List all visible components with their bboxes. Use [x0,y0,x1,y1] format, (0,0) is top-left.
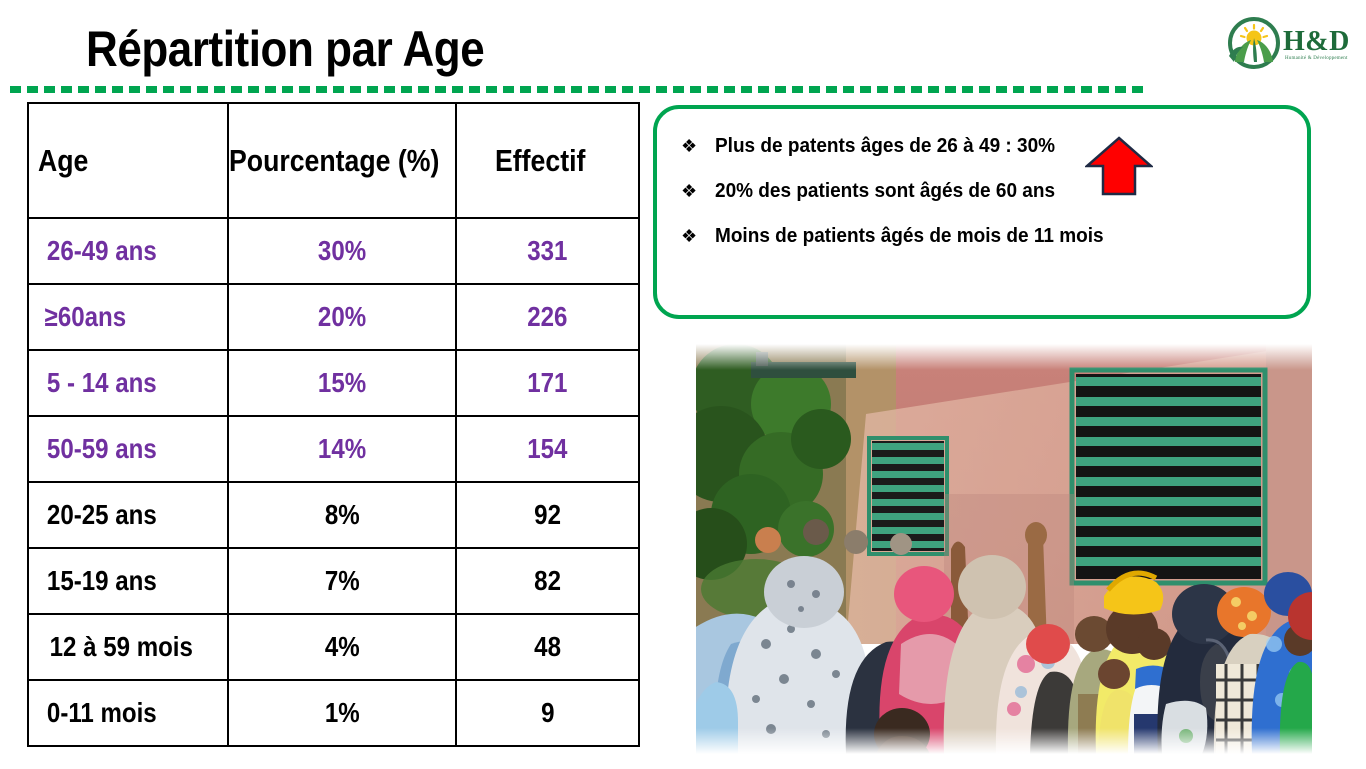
photo-content [696,344,1312,754]
cell-age: 50-59 ans [28,416,228,482]
column-header-pourcentage: Pourcentage (%) [228,103,456,218]
up-arrow-icon [1085,136,1153,196]
key-findings-callout: ❖ Plus de patents âges de 26 à 49 : 30% … [653,105,1311,319]
age-distribution-table: Age Pourcentage (%) Effectif 26-49 ans 3… [27,102,640,747]
cell-age: 20-25 ans [28,482,228,548]
logo-emblem-icon [1227,16,1281,70]
bullet-text: Plus de patents âges de 26 à 49 : 30% [715,135,1055,158]
cell-effectif: 154 [456,416,639,482]
diamond-bullet-icon: ❖ [681,226,715,247]
cell-age: 0-11 mois [28,680,228,746]
column-header-effectif: Effectif [456,103,639,218]
cell-pourcentage: 4% [228,614,456,680]
column-header-pourcentage-label: Pourcentage (%) [229,143,439,179]
cell-effectif: 171 [456,350,639,416]
cell-age: 5 - 14 ans [28,350,228,416]
column-header-age-label: Age [38,143,88,179]
cell-effectif: 9 [456,680,639,746]
bullet-text: Moins de patients âgés de mois de 11 moi… [715,225,1104,248]
table-row: 20-25 ans 8% 92 [28,482,639,548]
diamond-bullet-icon: ❖ [681,181,715,202]
cell-age: 26-49 ans [28,218,228,284]
cell-pourcentage: 8% [228,482,456,548]
green-dashed-divider [10,86,1146,93]
table-row: 12 à 59 mois 4% 48 [28,614,639,680]
cell-effectif: 82 [456,548,639,614]
cell-pourcentage: 7% [228,548,456,614]
table-row: 15-19 ans 7% 82 [28,548,639,614]
cell-pourcentage: 14% [228,416,456,482]
diamond-bullet-icon: ❖ [681,136,715,157]
cell-pourcentage: 30% [228,218,456,284]
cell-pourcentage: 1% [228,680,456,746]
list-item: ❖ Moins de patients âgés de mois de 11 m… [681,225,1124,248]
cell-pourcentage: 20% [228,284,456,350]
clinic-crowd-photo [688,337,1320,761]
table-row: 26-49 ans 30% 331 [28,218,639,284]
cell-effectif: 331 [456,218,639,284]
photo-inner-frame [696,344,1312,754]
logo-tagline: Humanité & Développement [1285,56,1348,61]
cell-pourcentage: 15% [228,350,456,416]
page-title: Répartition par Age [86,22,484,77]
table-row: 0-11 mois 1% 9 [28,680,639,746]
cell-effectif: 226 [456,284,639,350]
table-row: 5 - 14 ans 15% 171 [28,350,639,416]
cell-effectif: 48 [456,614,639,680]
bullet-text: 20% des patients sont âgés de 60 ans [715,180,1055,203]
column-header-effectif-label: Effectif [495,143,585,179]
cell-effectif: 92 [456,482,639,548]
table-row: ≥60ans 20% 226 [28,284,639,350]
column-header-age: Age [28,103,228,218]
logo-wordmark: H&D [1283,26,1350,58]
cell-age: 15-19 ans [28,548,228,614]
table-row: 50-59 ans 14% 154 [28,416,639,482]
cell-age: ≥60ans [28,284,228,350]
list-item: ❖ Plus de patents âges de 26 à 49 : 30% [681,135,1073,158]
list-item: ❖ 20% des patients sont âgés de 60 ans [681,180,1073,203]
logo: H&D Humanité & Développement [1227,14,1353,76]
table-header-row: Age Pourcentage (%) Effectif [28,103,639,218]
cell-age: 12 à 59 mois [28,614,228,680]
